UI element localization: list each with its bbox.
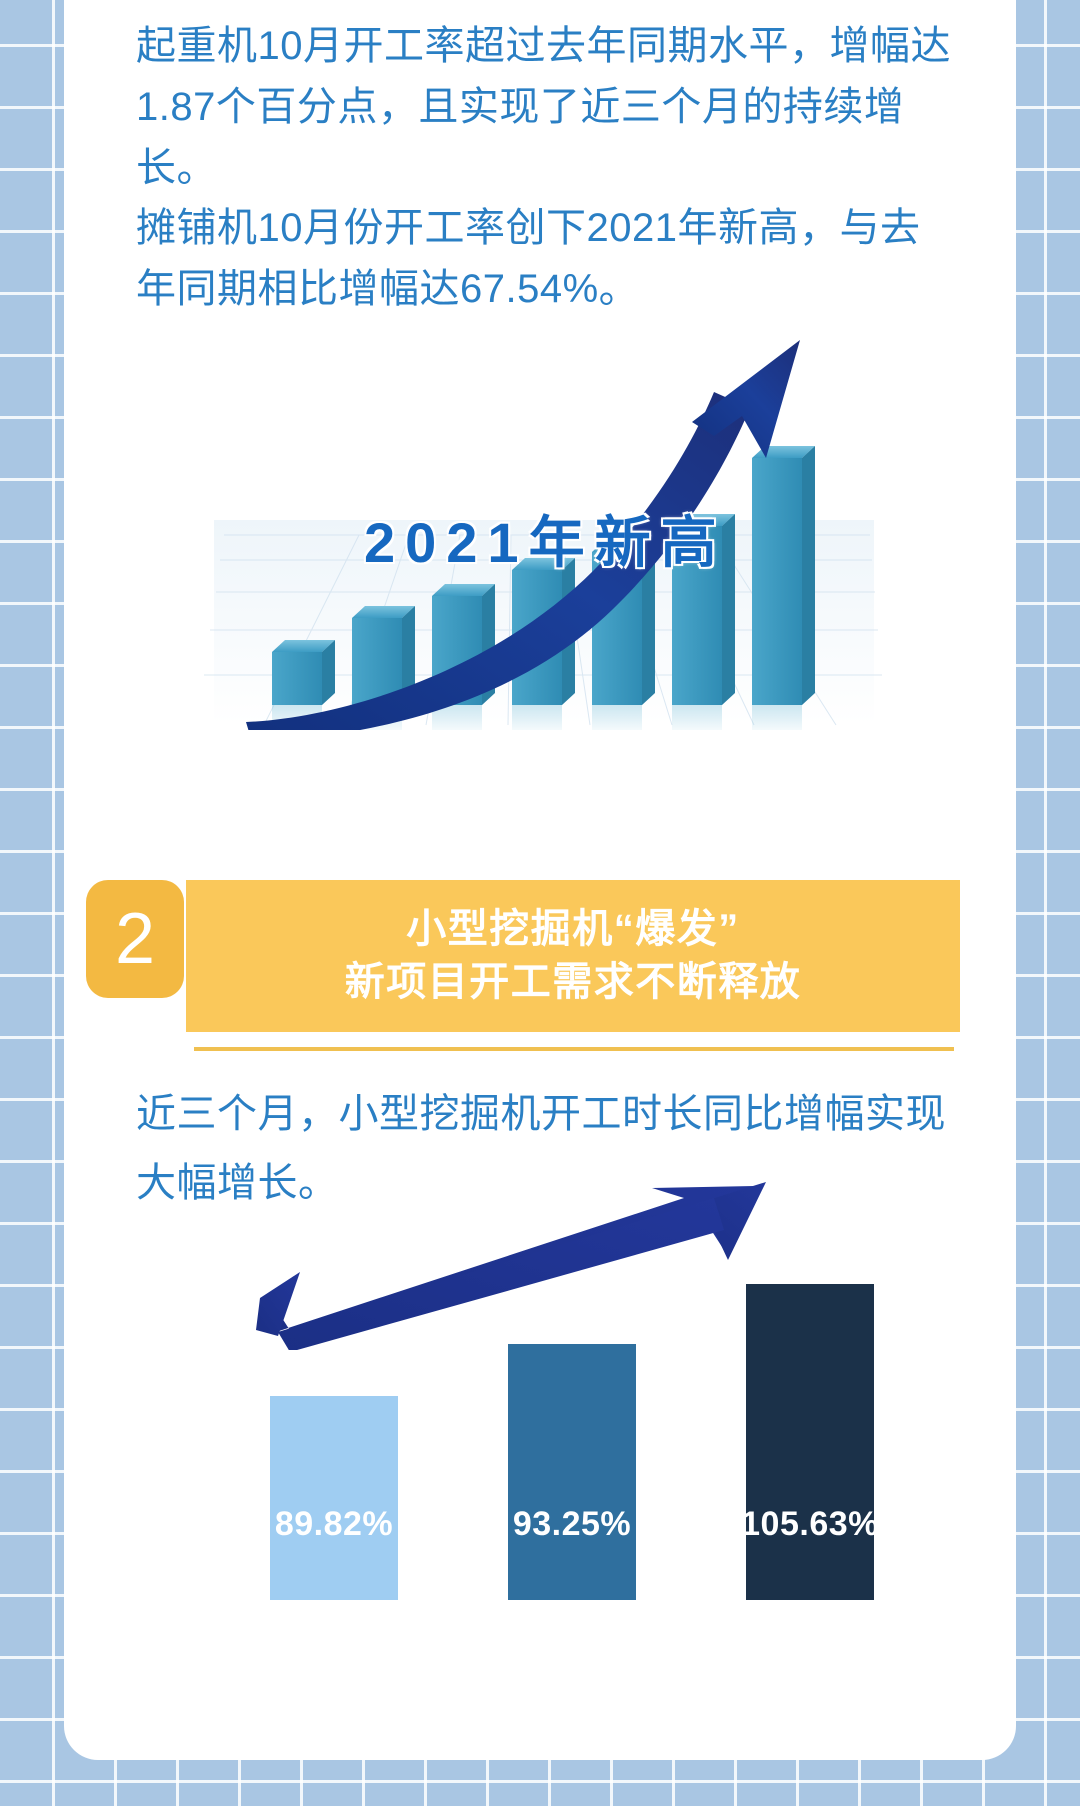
crane-paragraph: 起重机10月开工率超过去年同期水平，增幅达1.87个百分点，且实现了近三个月的持… bbox=[136, 16, 956, 198]
bar-value-label: 93.25% bbox=[513, 1505, 631, 1544]
section-2-banner: 小型挖掘机“爆发” 新项目开工需求不断释放 bbox=[186, 880, 960, 1032]
bar-item: 105.63% bbox=[746, 1284, 874, 1600]
section-2-header: 2 小型挖掘机“爆发” 新项目开工需求不断释放 bbox=[64, 880, 1016, 1080]
banner-title-line-1: 小型挖掘机“爆发” bbox=[406, 906, 740, 953]
banner-title-line-2: 新项目开工需求不断释放 bbox=[345, 959, 802, 1006]
percent-bars: 89.82% 93.25% 105.63% bbox=[270, 1270, 940, 1600]
bar-value-label: 105.63% bbox=[741, 1505, 879, 1544]
chart-2021-new-high: 2021年新高 bbox=[194, 330, 894, 730]
paver-paragraph: 摊铺机10月份开工率创下2021年新高，与去年同期相比增幅达67.54%。 bbox=[136, 198, 956, 320]
chart-mini-excavator-growth: 89.82% 93.25% 105.63% bbox=[194, 1180, 954, 1600]
new-high-label: 2021年新高 bbox=[364, 498, 727, 579]
banner-divider bbox=[194, 1047, 954, 1051]
bar-item: 93.25% bbox=[508, 1344, 636, 1600]
bar-item: 89.82% bbox=[270, 1396, 398, 1600]
bar-value-label: 89.82% bbox=[275, 1505, 393, 1544]
section-number-badge: 2 bbox=[86, 880, 184, 998]
content-card: 起重机10月开工率超过去年同期水平，增幅达1.87个百分点，且实现了近三个月的持… bbox=[64, 0, 1016, 1760]
